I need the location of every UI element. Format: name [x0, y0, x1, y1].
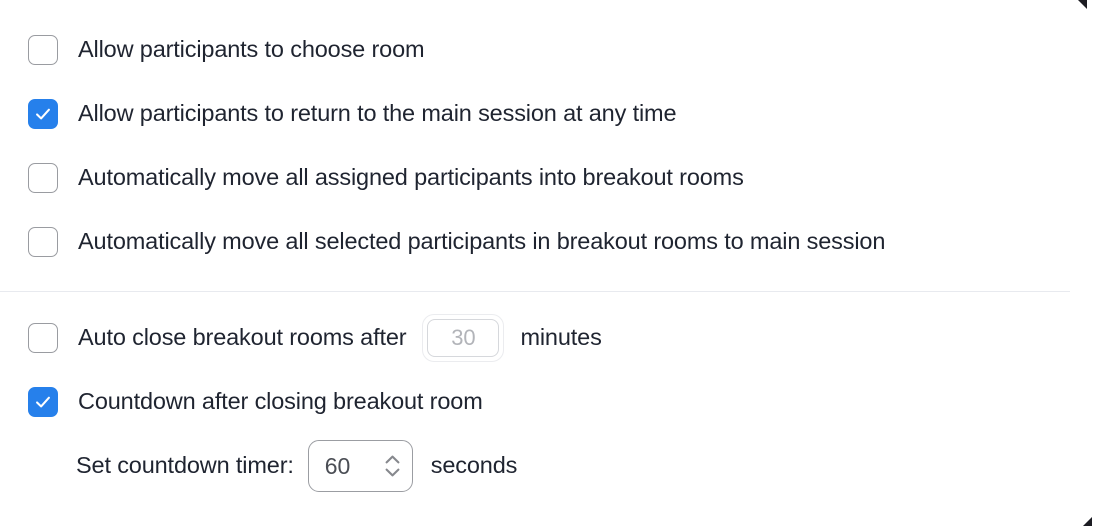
option-row-auto-move-selected[interactable]: Automatically move all selected particip…: [0, 210, 1098, 274]
label-set-countdown-timer: Set countdown timer:: [76, 454, 294, 478]
option-row-return-to-main-session[interactable]: Allow participants to return to the main…: [0, 82, 1098, 146]
option-row-countdown-timer: Set countdown timer: 60 seconds: [0, 434, 1098, 498]
participant-options-section: Allow participants to choose room Allow …: [0, 0, 1098, 274]
option-row-countdown[interactable]: Countdown after closing breakout room: [0, 370, 1098, 434]
label-allow-participants-choose-room: Allow participants to choose room: [78, 38, 424, 62]
checkbox-auto-move-assigned-participants[interactable]: [28, 163, 58, 193]
countdown-timer-value: 60: [325, 455, 351, 478]
countdown-timer-stepper[interactable]: 60: [308, 440, 413, 492]
auto-close-minutes-field-wrapper: 30: [422, 314, 504, 362]
breakout-rooms-options-panel: Allow participants to choose room Allow …: [0, 0, 1098, 526]
checkbox-allow-participants-return-main-session[interactable]: [28, 99, 58, 129]
chevron-down-icon[interactable]: [385, 468, 400, 477]
auto-close-minutes-value: 30: [451, 327, 475, 349]
auto-close-minutes-input[interactable]: 30: [427, 319, 499, 357]
checkbox-auto-move-selected-participants[interactable]: [28, 227, 58, 257]
option-row-auto-move-assigned[interactable]: Automatically move all assigned particip…: [0, 146, 1098, 210]
checkbox-allow-participants-choose-room[interactable]: [28, 35, 58, 65]
label-auto-close-breakout-rooms: Auto close breakout rooms after: [78, 326, 406, 350]
window-corner-bottom-right: [1083, 517, 1092, 526]
option-row-choose-room[interactable]: Allow participants to choose room: [0, 18, 1098, 82]
checkbox-auto-close-breakout-rooms[interactable]: [28, 323, 58, 353]
label-allow-participants-return-main-session: Allow participants to return to the main…: [78, 102, 676, 126]
label-countdown-after-closing: Countdown after closing breakout room: [78, 390, 483, 414]
label-auto-move-assigned-participants: Automatically move all assigned particip…: [78, 166, 744, 190]
checkmark-icon: [34, 393, 53, 412]
stepper-arrows[interactable]: [385, 455, 400, 477]
auto-close-minutes-unit-label: minutes: [520, 326, 601, 350]
chevron-up-icon[interactable]: [385, 455, 400, 464]
checkbox-countdown-after-closing[interactable]: [28, 387, 58, 417]
countdown-timer-unit-label: seconds: [431, 454, 517, 478]
label-auto-move-selected-participants: Automatically move all selected particip…: [78, 230, 885, 254]
timing-options-section: Auto close breakout rooms after 30 minut…: [0, 292, 1098, 498]
checkmark-icon: [34, 105, 53, 124]
option-row-auto-close[interactable]: Auto close breakout rooms after 30 minut…: [0, 306, 1098, 370]
